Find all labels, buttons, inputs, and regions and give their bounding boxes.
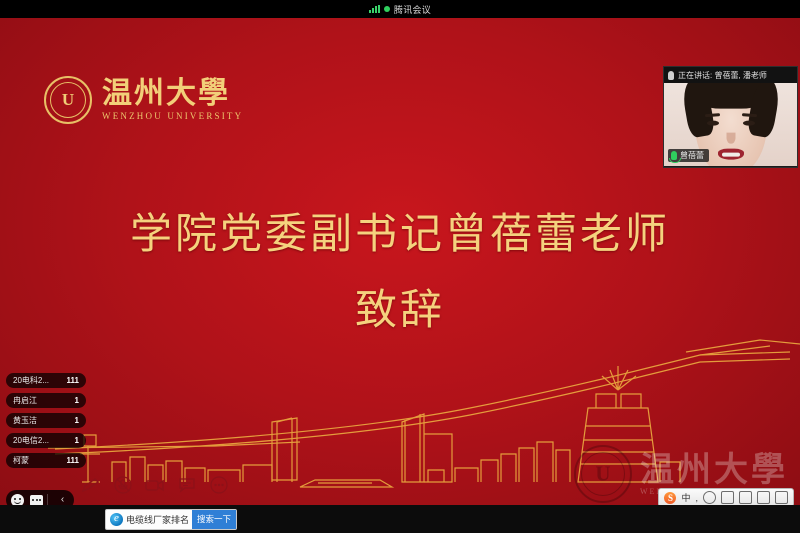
- list-item[interactable]: 黄玉洁 1: [6, 413, 86, 428]
- university-seal-icon: U: [44, 76, 92, 124]
- settings-icon[interactable]: [775, 491, 788, 504]
- chat-count: 1: [75, 416, 79, 425]
- watermark-seal-mark: U: [576, 462, 630, 487]
- chat-name: 冉启江: [13, 395, 37, 406]
- shared-slide-stage: U 温州大學 WENZHOU UNIVERSITY 学院党委副书记曾蓓蕾老师 致…: [0, 18, 800, 505]
- keyboard-icon[interactable]: [739, 491, 752, 504]
- watermark-name-cn: 温州大學: [640, 453, 788, 487]
- chat-name: 20电信2...: [13, 435, 49, 446]
- chat-count: 111: [67, 456, 79, 465]
- search-query[interactable]: 电缆线厂家排名: [126, 513, 192, 526]
- taskbar[interactable]: 电缆线厂家排名 搜索一下: [0, 505, 800, 533]
- search-button[interactable]: 搜索一下: [192, 510, 236, 529]
- microphone-icon: [668, 71, 674, 80]
- participant-name-badge: 曾蓓蕾: [668, 149, 709, 162]
- chat-count: 1: [75, 396, 79, 405]
- university-logo: U 温州大學 WENZHOU UNIVERSITY: [44, 76, 243, 124]
- self-view-video-panel[interactable]: 正在讲话: 曾蓓蕾, 潘老师 曾蓓蕾: [663, 66, 798, 168]
- toolbox-icon[interactable]: [757, 491, 770, 504]
- internet-explorer-icon[interactable]: [110, 513, 123, 526]
- slide-headline: 学院党委副书记曾蓓蕾老师 致辞: [0, 196, 800, 348]
- participant-name: 曾蓓蕾: [680, 150, 704, 161]
- speaking-status-bar: 正在讲话: 曾蓓蕾, 潘老师: [664, 67, 797, 83]
- headline-line-1: 学院党委副书记曾蓓蕾老师: [130, 209, 670, 258]
- screen-root: 腾讯会议 U 温州大學 WENZHOU UNIVERSITY 学院党委副书记曾蓓…: [0, 0, 800, 533]
- ime-mode-label[interactable]: 中: [681, 491, 690, 504]
- top-status-bar: 腾讯会议: [0, 0, 800, 18]
- university-name-en: WENZHOU UNIVERSITY: [102, 111, 243, 121]
- pencil-icon[interactable]: [80, 476, 102, 494]
- sogou-logo-icon[interactable]: S: [664, 492, 676, 504]
- microphone-on-icon: [671, 151, 677, 160]
- watermark-seal-icon: U: [574, 445, 632, 503]
- chat-name: 20电科2...: [13, 375, 49, 386]
- video-feed[interactable]: 曾蓓蕾: [664, 83, 797, 166]
- seal-mark: U: [46, 90, 90, 110]
- floating-mini-toolbar[interactable]: ‹: [6, 490, 74, 505]
- punctuation-icon[interactable]: ,: [695, 493, 698, 503]
- chevron-left-icon[interactable]: ‹: [47, 494, 72, 505]
- more-ellipsis-icon[interactable]: [208, 476, 230, 494]
- list-item[interactable]: 柯蒙 111: [6, 453, 86, 468]
- list-item[interactable]: 冉启江 1: [6, 393, 86, 408]
- chat-name: 柯蒙: [13, 455, 29, 466]
- chat-count: 111: [67, 376, 79, 385]
- annotation-toolbar[interactable]: [80, 476, 230, 494]
- chat-name: 黄玉洁: [13, 415, 37, 426]
- chat-bubble-icon[interactable]: [27, 490, 46, 505]
- microphone-muted-icon[interactable]: [112, 476, 134, 494]
- circle-icon[interactable]: [703, 491, 716, 504]
- emoji-smiley-icon[interactable]: [8, 490, 27, 505]
- chat-bubble-icon[interactable]: [176, 476, 198, 494]
- speaking-label: 正在讲话: 曾蓓蕾, 潘老师: [678, 70, 767, 81]
- signal-bars-icon: [369, 5, 380, 13]
- search-input[interactable]: 电缆线厂家排名 搜索一下: [105, 509, 237, 530]
- participant-chat-list[interactable]: 20电科2... 111 冉启江 1 黄玉洁 1 20电信2... 1 柯蒙 1…: [6, 373, 86, 468]
- list-item[interactable]: 20电科2... 111: [6, 373, 86, 388]
- app-title: 腾讯会议: [394, 3, 431, 16]
- camera-icon[interactable]: [144, 476, 166, 494]
- chat-count: 1: [75, 436, 79, 445]
- green-status-dot: [384, 6, 390, 12]
- university-name-cn: 温州大學: [102, 79, 243, 109]
- list-item[interactable]: 20电信2... 1: [6, 433, 86, 448]
- microphone-icon[interactable]: [721, 491, 734, 504]
